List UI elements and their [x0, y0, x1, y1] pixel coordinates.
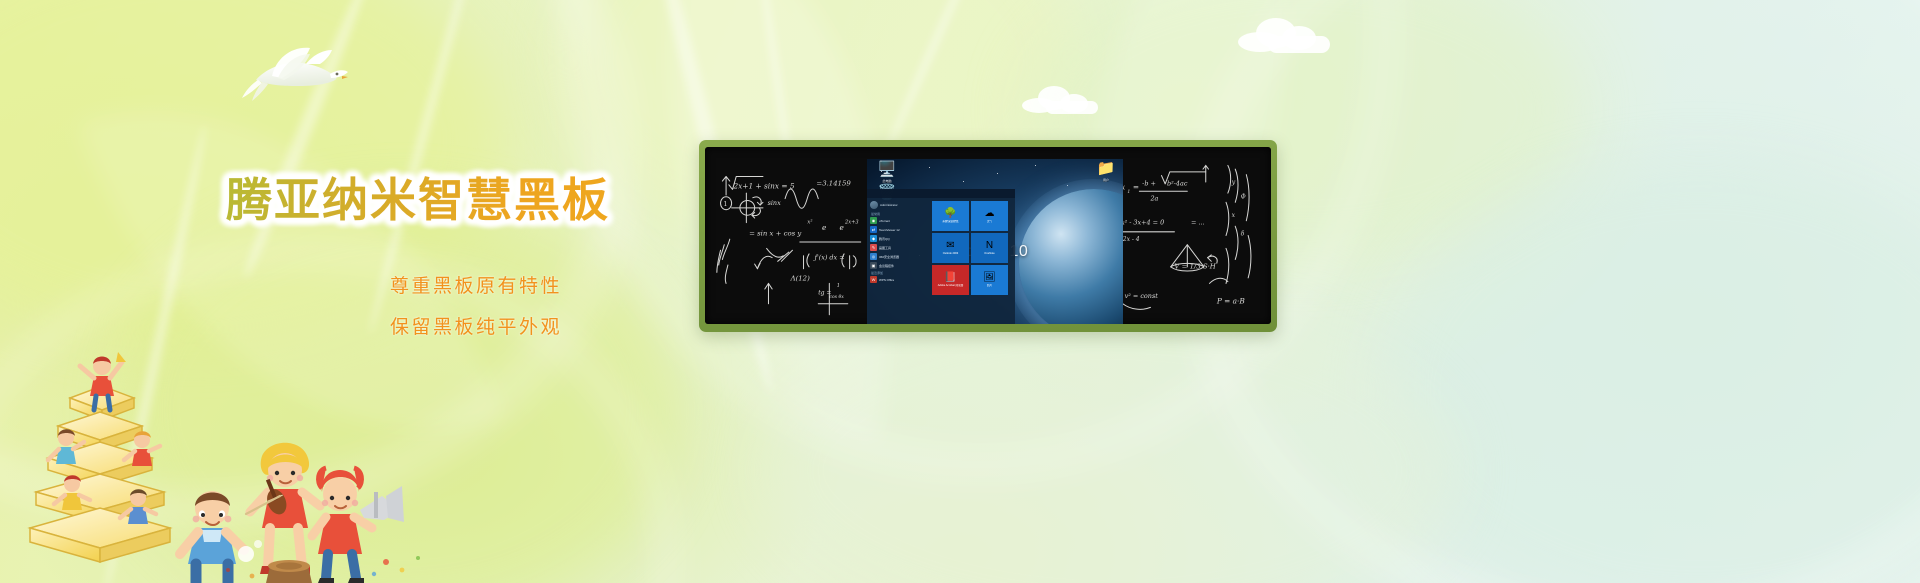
start-menu-item[interactable]: W WPS Office: [870, 276, 929, 283]
section-title-most-used: 最常用: [871, 212, 929, 216]
tile[interactable]: ✉ Outlook 2003: [932, 233, 969, 263]
svg-text:= sin x + cos y: = sin x + cos y: [749, 230, 801, 238]
tree-icon: 🌳: [944, 208, 956, 219]
svg-text:= ...: = ...: [1191, 218, 1205, 226]
svg-text:2a: 2a: [1149, 194, 1158, 202]
utorrent-icon: ◉: [870, 217, 877, 224]
svg-text:2x - 4: 2x - 4: [1122, 236, 1140, 243]
svg-text:2x+1 + sinx = 5: 2x+1 + sinx = 5: [732, 181, 794, 190]
svg-text:Λ(12): Λ(12): [790, 275, 810, 283]
desktop-icon-user-folder[interactable]: 📁 用户: [1089, 161, 1123, 182]
start-menu-item[interactable]: ▣ 会议程控件: [870, 262, 929, 269]
svg-text:=3.14159: =3.14159: [816, 180, 851, 188]
start-menu-item[interactable]: ◎ 360安全浏览器: [870, 253, 929, 260]
blackboard-surface: 2x+1 + sinx = 5 =3.14159 sinx = sin x + …: [705, 147, 1271, 324]
start-menu-item[interactable]: ◆ 腾讯QQ: [870, 235, 929, 242]
kid-violin-girl: [246, 443, 320, 574]
windows-desktop-screen: Windows 10 🖥️ 此电脑 🗑️ 回收站 📁 用户: [867, 159, 1123, 324]
svg-text:P = a·B: P = a·B: [1216, 297, 1246, 306]
qq-icon: ◆: [870, 235, 877, 242]
start-menu-item[interactable]: ✎ 画图工具: [870, 244, 929, 251]
svg-text:x: x: [1232, 212, 1236, 219]
start-menu-item[interactable]: ⇄ TeamViewer 12: [870, 226, 929, 233]
start-menu-header: [867, 189, 1015, 198]
paint-tool-icon: ✎: [870, 244, 877, 251]
svg-text:δ: δ: [1241, 231, 1245, 238]
page-title: 腾亚纳米智慧黑板: [0, 176, 690, 224]
teamviewer-icon: ⇄: [870, 226, 877, 233]
chalk-formulas-left: 2x+1 + sinx = 5 =3.14159 sinx = sin x + …: [705, 147, 867, 324]
meeting-control-icon: ▣: [870, 262, 877, 269]
svg-text:v² = const: v² = const: [1125, 292, 1159, 300]
start-menu-app-list[interactable]: Administrator 最常用 ◉ uTorrent ⇄ TeamViewe…: [867, 198, 931, 324]
svg-text:cos θx: cos θx: [829, 294, 844, 300]
desktop-icon-computer[interactable]: 🖥️ 此电脑: [870, 162, 904, 183]
svg-text:1: 1: [1127, 189, 1130, 195]
kid-horn-boy: [312, 468, 404, 583]
tile[interactable]: 📕 Adobe Acrobat 阅读器: [932, 265, 969, 295]
children-reading-books-illustration: [30, 270, 430, 583]
kid-sitting-blue: [180, 491, 262, 582]
start-menu-item[interactable]: ◉ uTorrent: [870, 217, 929, 224]
section-title-recently-added: 最近添加: [871, 271, 929, 275]
smart-blackboard-device: 2x+1 + sinx = 5 =3.14159 sinx = sin x + …: [699, 140, 1277, 332]
svg-text:y: y: [1231, 178, 1236, 186]
wps-office-icon: W: [870, 276, 877, 283]
tile[interactable]: 🖼 照片: [971, 265, 1008, 295]
cloud-top-right-icon: [1238, 12, 1334, 56]
svg-text:b²-4ac: b²-4ac: [1167, 180, 1188, 188]
user-folder-icon: 📁: [1089, 161, 1123, 177]
svg-text:1: 1: [837, 283, 840, 289]
tile[interactable]: ☁ 天气: [971, 201, 1008, 231]
outlook-icon: ✉: [946, 240, 954, 251]
chalk-formulas-right: x 1 = -b + b²-4ac 2a x² - 3x+4 = 0 = ...…: [1111, 147, 1271, 324]
svg-text:=: =: [1133, 182, 1139, 191]
start-menu-tiles[interactable]: 🌳 系统\桌面壁纸 ☁ 天气 ✉ Outlook 2003: [931, 198, 1015, 324]
browser-icon: ◎: [870, 253, 877, 260]
svg-text:-b +: -b +: [1142, 180, 1156, 188]
photos-icon: 🖼: [983, 272, 996, 283]
start-menu-user[interactable]: Administrator: [870, 201, 929, 209]
start-menu[interactable]: Administrator 最常用 ◉ uTorrent ⇄ TeamViewe…: [867, 189, 1015, 324]
svg-text:2x+3: 2x+3: [844, 220, 859, 226]
onenote-icon: N: [986, 240, 993, 251]
svg-text:ƒ'(x) dx =: ƒ'(x) dx =: [813, 253, 845, 261]
tile[interactable]: N OneNote: [971, 233, 1008, 263]
svg-text:x² - 3x+4 = 0: x² - 3x+4 = 0: [1121, 218, 1164, 226]
tile[interactable]: 🌳 系统\桌面壁纸: [932, 201, 969, 231]
cloud-mid-icon: [1022, 84, 1100, 116]
svg-text:e: e: [839, 223, 844, 232]
svg-text:1: 1: [723, 200, 727, 208]
computer-icon: 🖥️: [870, 162, 904, 178]
svg-text:sinx: sinx: [768, 199, 782, 207]
weather-icon: ☁: [985, 208, 995, 219]
acrobat-reader-icon: 📕: [944, 272, 956, 283]
banner-root: 腾亚纳米智慧黑板 尊重黑板原有特性 保留黑板纯平外观 2x+1 + sinx =…: [0, 0, 1920, 583]
svg-text:Ф: Ф: [1241, 194, 1246, 201]
tree-stump: [266, 560, 312, 583]
svg-text:x²: x²: [807, 219, 812, 226]
dove-icon: [238, 36, 348, 102]
svg-text:e: e: [822, 223, 827, 232]
avatar: [870, 201, 878, 209]
